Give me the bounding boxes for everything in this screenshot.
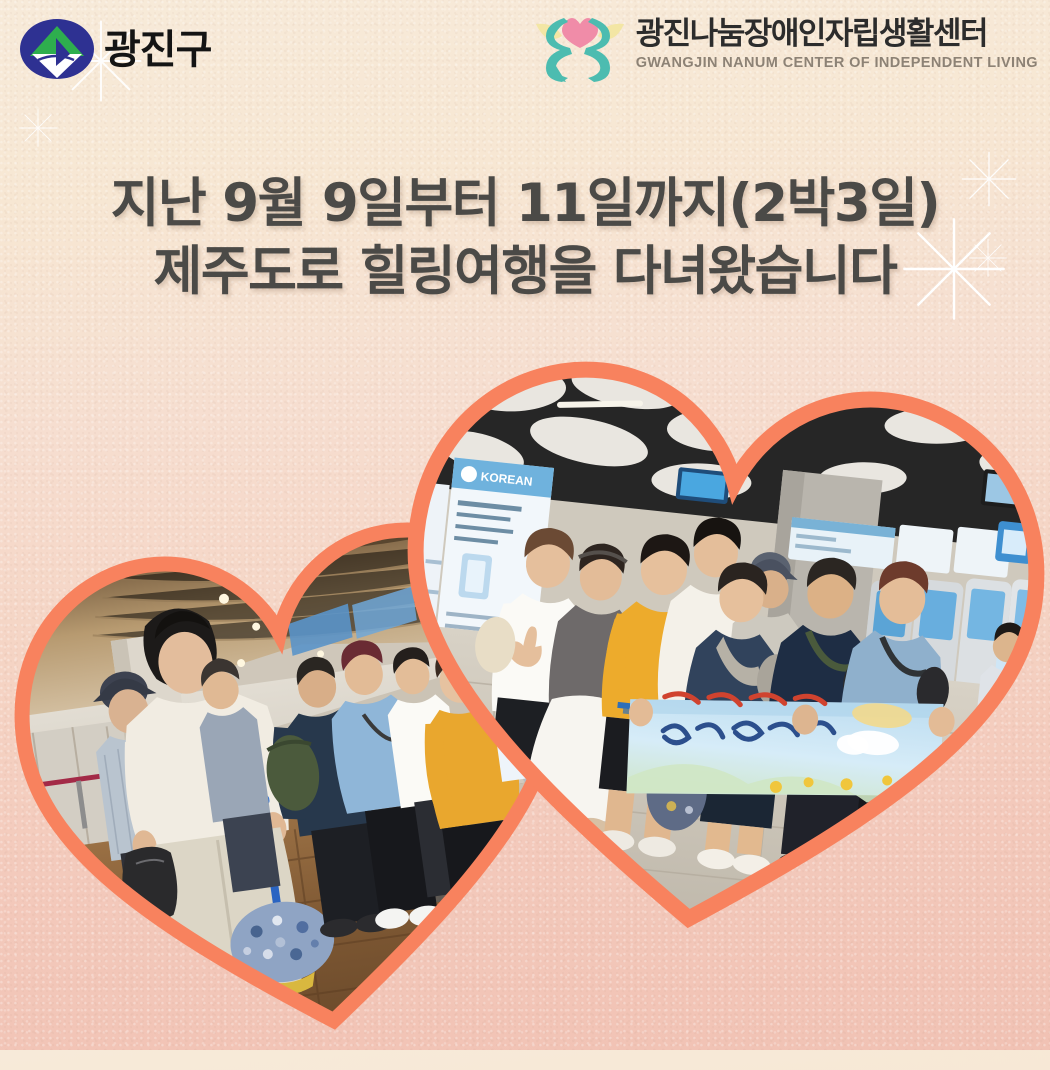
photo-collage: KOREAN	[0, 0, 1050, 1050]
title-line-2: 제주도로 힐링여행을 다녀왔습니다	[0, 238, 1050, 306]
page-title: 지난 9월 9일부터 11일까지(2박3일) 제주도로 힐링여행을 다녀왔습니다	[0, 170, 1050, 306]
nanum-winged-people-heart-icon	[534, 8, 626, 82]
photo-heart-right: KOREAN	[364, 336, 1050, 963]
gwangjin-nanum-center-logo: 광진나눔장애인자립생활센터 GWANGJIN NANUM CENTER OF I…	[534, 8, 1038, 82]
gwangjin-emblem-icon	[18, 16, 96, 82]
gwangjin-gu-logo: 광진구	[18, 16, 211, 82]
nanum-center-title-kr: 광진나눔장애인자립생활센터	[636, 19, 1038, 50]
gwangjin-gu-label: 광진구	[104, 30, 211, 70]
title-line-1: 지난 9월 9일부터 11일까지(2박3일)	[0, 170, 1050, 238]
page-header: 광진구 광진나눔장애인자립생활센터 GWANGJIN NANUM CENTER …	[0, 0, 1050, 108]
nanum-center-title-en: GWANGJIN NANUM CENTER OF INDEPENDENT LIV…	[636, 56, 1038, 71]
